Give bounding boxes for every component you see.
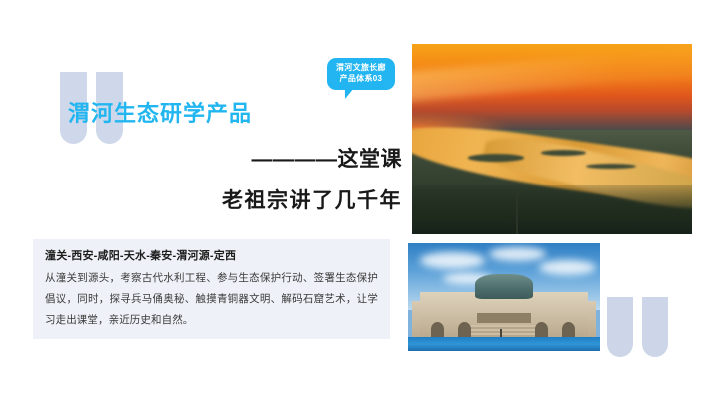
- headline-subtitle-line-2: 老祖宗讲了几千年: [90, 184, 402, 214]
- monument-arch: [562, 322, 575, 337]
- sunset-tower: [516, 192, 518, 234]
- monument-arch: [431, 322, 444, 337]
- product-series-badge: 渭河文旅长廊 产品体系03: [327, 58, 395, 90]
- route-info-panel: 潼关-西安-咸阳-天水-秦安-渭河源-定西 从潼关到源头，考察古代水利工程、参与…: [33, 239, 390, 339]
- monument-cloud: [420, 252, 485, 269]
- close-quote-stroke-1: [607, 297, 633, 357]
- close-quote-stroke-2: [642, 297, 668, 357]
- sunset-foreground: [412, 185, 692, 234]
- badge-tail-icon: [345, 88, 361, 99]
- badge-line-1: 渭河文旅长廊: [336, 63, 386, 74]
- monument-photo: [408, 243, 600, 351]
- slide-canvas: 渭河生态研学产品 ————这堂课 老祖宗讲了几千年 渭河文旅长廊 产品体系03 …: [0, 0, 715, 400]
- monument-arch: [535, 322, 548, 337]
- close-quote-icon: [607, 297, 673, 357]
- monument-arch: [458, 322, 471, 337]
- headline-title: 渭河生态研学产品: [68, 96, 252, 128]
- sunset-river-photo: [412, 44, 692, 234]
- route-title: 潼关-西安-咸阳-天水-秦安-渭河源-定西: [45, 247, 236, 263]
- monument-person: [500, 329, 502, 337]
- monument-dome: [475, 274, 533, 299]
- monument-plaque: [477, 313, 531, 323]
- sunset-sandbar: [468, 154, 524, 162]
- badge-line-2: 产品体系03: [336, 74, 386, 85]
- monument-water: [408, 337, 600, 351]
- route-description: 从潼关到源头，考察古代水利工程、参与生态保护行动、签署生态保护倡议，同时，探寻兵…: [45, 268, 378, 331]
- badge-body: 渭河文旅长廊 产品体系03: [327, 58, 395, 90]
- monument-steps: [466, 325, 543, 337]
- headline-subtitle-line-1: ————这堂课: [90, 143, 402, 173]
- sunset-sandbar: [541, 150, 586, 156]
